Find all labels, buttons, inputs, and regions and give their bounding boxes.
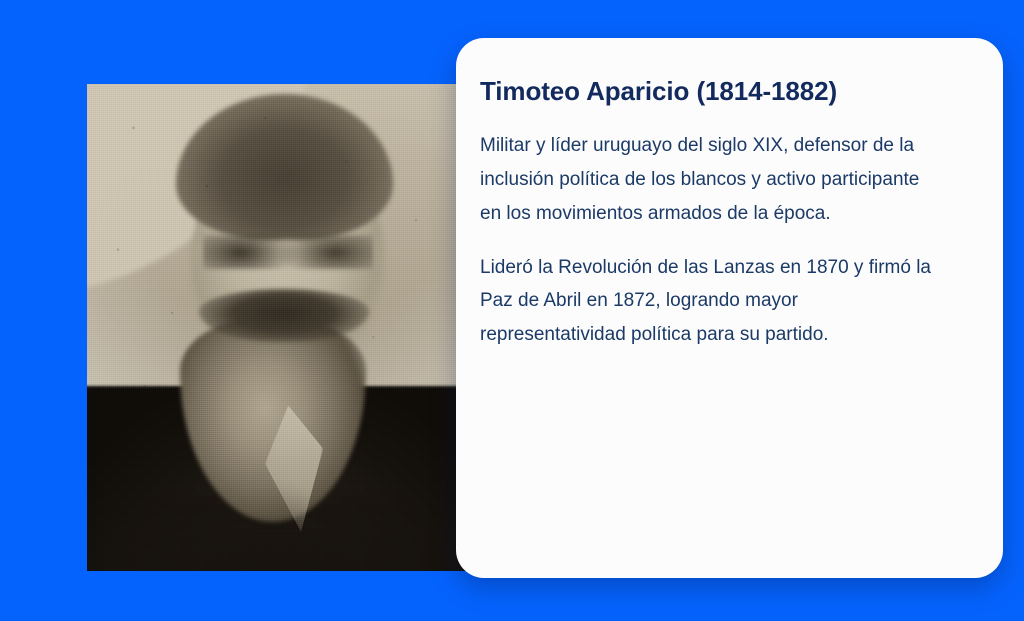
info-card: Timoteo Aparicio (1814-1882) Militar y l…	[456, 38, 1003, 578]
photo-speckle-texture	[87, 84, 474, 571]
card-paragraph-1: Militar y líder uruguayo del siglo XIX, …	[480, 129, 935, 230]
slide-canvas: Timoteo Aparicio (1814-1882) Militar y l…	[0, 0, 1024, 621]
card-paragraph-2: Lideró la Revolución de las Lanzas en 18…	[480, 251, 935, 352]
portrait-photo	[87, 84, 474, 571]
card-title: Timoteo Aparicio (1814-1882)	[480, 76, 973, 107]
